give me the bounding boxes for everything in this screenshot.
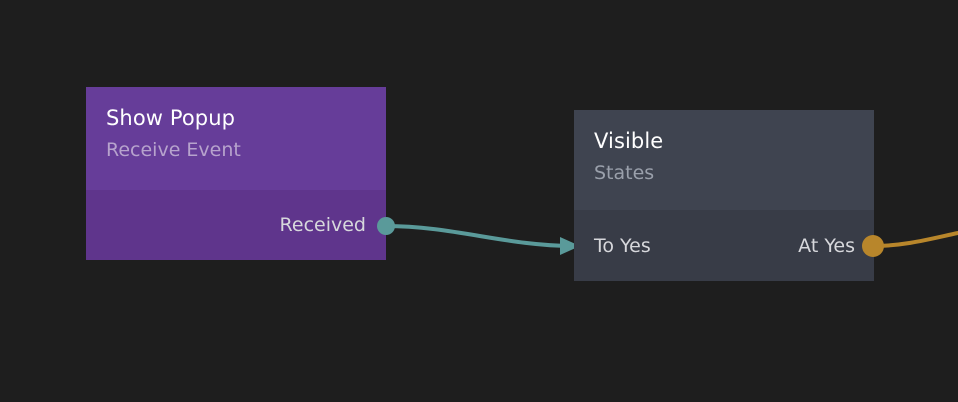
node-visible[interactable]: Visible States To Yes At Yes xyxy=(574,110,874,281)
port-dot-received[interactable] xyxy=(377,217,395,235)
node-show-popup-header[interactable]: Show Popup Receive Event xyxy=(86,87,386,190)
node-visible-body: To Yes At Yes xyxy=(574,210,874,281)
node-show-popup-title: Show Popup xyxy=(106,105,366,131)
wire-received-to-yes[interactable] xyxy=(386,226,572,246)
port-label-to-yes[interactable]: To Yes xyxy=(594,234,651,258)
wire-at-yes-out[interactable] xyxy=(873,233,958,246)
node-visible-title: Visible xyxy=(594,128,854,154)
port-label-received[interactable]: Received xyxy=(280,213,366,237)
node-show-popup-subtitle: Receive Event xyxy=(106,138,366,163)
port-row-yes: To Yes At Yes xyxy=(574,210,874,281)
node-visible-subtitle: States xyxy=(594,161,854,186)
port-dot-at-yes[interactable] xyxy=(862,235,884,257)
port-label-at-yes[interactable]: At Yes xyxy=(798,234,855,258)
node-visible-header[interactable]: Visible States xyxy=(574,110,874,210)
node-show-popup-body: Received xyxy=(86,190,386,260)
node-graph-canvas[interactable]: Show Popup Receive Event Received Visibl… xyxy=(0,0,958,402)
node-show-popup[interactable]: Show Popup Receive Event Received xyxy=(86,87,386,260)
port-row-received: Received xyxy=(86,190,386,260)
